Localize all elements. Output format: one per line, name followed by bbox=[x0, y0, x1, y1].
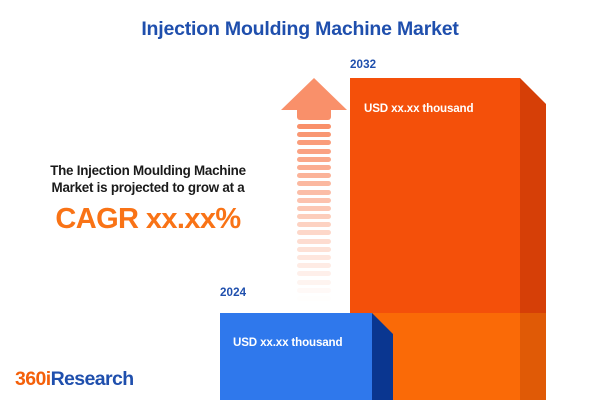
logo-mark: 360i bbox=[15, 368, 51, 390]
arrow-shaft-stripe bbox=[297, 271, 331, 276]
arrow-shaft-stripe bbox=[297, 157, 331, 162]
page-title: Injection Moulding Machine Market bbox=[0, 18, 600, 41]
arrow-shaft-stripe bbox=[297, 247, 331, 252]
bar-2024-front-face bbox=[220, 313, 372, 400]
arrow-shaft-stripe bbox=[297, 288, 331, 293]
arrow-shaft-stripe bbox=[297, 132, 331, 137]
growth-arrow-icon bbox=[281, 78, 347, 306]
bar-2032-overlap-slab-side bbox=[520, 313, 546, 400]
arrow-head-icon bbox=[281, 78, 347, 110]
arrow-neck bbox=[297, 109, 331, 120]
arrow-shaft-stripe bbox=[297, 239, 331, 244]
arrow-shaft-stripe bbox=[297, 255, 331, 260]
bar-2024: USD xx.xx thousand bbox=[220, 313, 372, 400]
arrow-shaft-stripe bbox=[297, 230, 331, 235]
bar-label-2032: 2032 bbox=[350, 58, 376, 71]
arrow-shaft bbox=[297, 124, 331, 306]
arrow-shaft-stripe bbox=[297, 214, 331, 219]
cagr-annotation: The Injection Moulding Machine Market is… bbox=[14, 163, 282, 235]
arrow-shaft-stripe bbox=[297, 173, 331, 178]
cagr-statement-line-1: The Injection Moulding Machine bbox=[14, 163, 282, 180]
arrow-shaft-stripe bbox=[297, 140, 331, 145]
cagr-value: CAGR xx.xx% bbox=[14, 203, 282, 235]
arrow-shaft-stripe bbox=[297, 222, 331, 227]
arrow-shaft-stripe bbox=[297, 206, 331, 211]
logo-word: Research bbox=[51, 368, 134, 390]
arrow-shaft-stripe bbox=[297, 263, 331, 268]
bar-2024-value-label: USD xx.xx thousand bbox=[233, 336, 373, 349]
arrow-shaft-stripe bbox=[297, 181, 331, 186]
cagr-statement-line-2: Market is projected to grow at a bbox=[14, 180, 282, 197]
arrow-shaft-stripe bbox=[297, 296, 331, 301]
bar-2032-value-label: USD xx.xx thousand bbox=[364, 102, 514, 115]
infographic-canvas: Injection Moulding Machine Market The In… bbox=[0, 0, 600, 400]
arrow-shaft-stripe bbox=[297, 165, 331, 170]
arrow-shaft-stripe bbox=[297, 190, 331, 195]
brand-logo: 360iResearch bbox=[15, 368, 134, 391]
bar-label-2024: 2024 bbox=[220, 286, 246, 299]
arrow-shaft-stripe bbox=[297, 280, 331, 285]
arrow-shaft-stripe bbox=[297, 198, 331, 203]
cagr-statement: The Injection Moulding Machine Market is… bbox=[14, 163, 282, 196]
arrow-shaft-stripe bbox=[297, 124, 331, 129]
arrow-shaft-stripe bbox=[297, 149, 331, 154]
